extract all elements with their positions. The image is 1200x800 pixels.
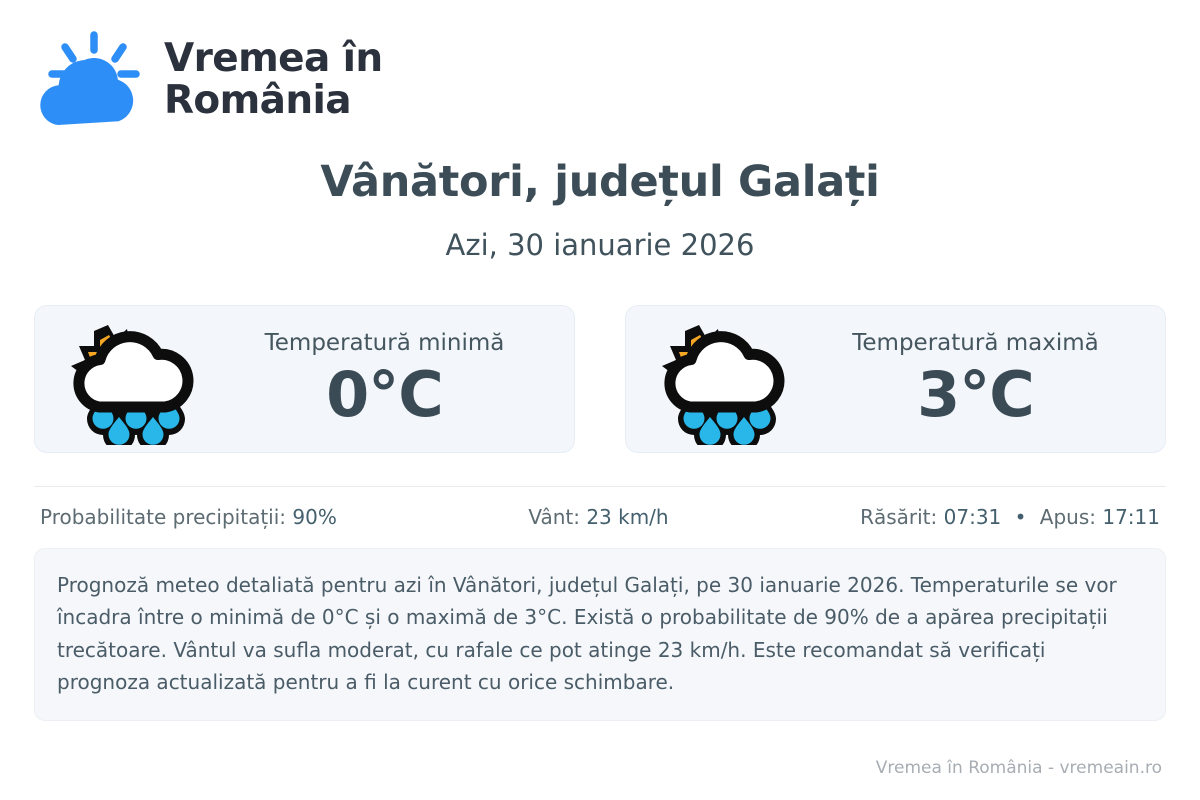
- sun-behind-rain-cloud-icon: [61, 313, 211, 445]
- stat-precipitation: Probabilitate precipitații: 90%: [40, 504, 337, 530]
- sunrise-value: 07:31: [944, 505, 1002, 529]
- footer-credit: Vremea în România - vremeain.ro: [34, 758, 1166, 800]
- card-max-temperature: Temperatură maximă 3°C: [625, 305, 1166, 453]
- stat-wind: Vânt: 23 km/h: [337, 504, 860, 530]
- sunrise-label: Răsărit:: [860, 505, 937, 529]
- forecast-description-panel: Prognoză meteo detaliată pentru azi în V…: [34, 548, 1166, 722]
- brand-header: Vremea în România: [34, 0, 1166, 112]
- card-min-temperature: Temperatură minimă 0°C: [34, 305, 575, 453]
- card-min-label: Temperatură minimă: [227, 330, 542, 358]
- stat-separator-dot: •: [1008, 505, 1034, 529]
- sunset-value: 17:11: [1102, 505, 1160, 529]
- precipitation-value: 90%: [292, 505, 336, 529]
- sun-behind-cloud-icon: [34, 30, 146, 130]
- sun-behind-rain-cloud-icon: [652, 313, 802, 445]
- brand-name: Vremea în România: [164, 38, 383, 122]
- forecast-description-text: Prognoză meteo detaliată pentru azi în V…: [57, 569, 1143, 699]
- card-max-temperature-value: 3°C: [818, 362, 1133, 427]
- stats-row: Probabilitate precipitații: 90% Vânt: 23…: [34, 487, 1166, 530]
- date-subtitle: Azi, 30 ianuarie 2026: [34, 229, 1166, 262]
- temperature-cards: Temperatură minimă 0°C: [34, 305, 1166, 453]
- wind-value: 23 km/h: [586, 505, 668, 529]
- card-min-temperature-value: 0°C: [227, 362, 542, 427]
- page-title: Vânători, județul Galați: [34, 158, 1166, 207]
- page-heading-block: Vânători, județul Galați Azi, 30 ianuari…: [34, 158, 1166, 263]
- weather-page: Vremea în România Vânători, județul Gala…: [0, 0, 1200, 800]
- stat-sunrise-sunset: Răsărit: 07:31 • Apus: 17:11: [860, 504, 1160, 530]
- card-max-body: Temperatură maximă 3°C: [818, 330, 1143, 427]
- wind-label: Vânt:: [528, 505, 580, 529]
- sunset-label: Apus:: [1040, 505, 1096, 529]
- card-max-label: Temperatură maximă: [818, 330, 1133, 358]
- card-min-body: Temperatură minimă 0°C: [227, 330, 552, 427]
- precipitation-label: Probabilitate precipitații:: [40, 505, 286, 529]
